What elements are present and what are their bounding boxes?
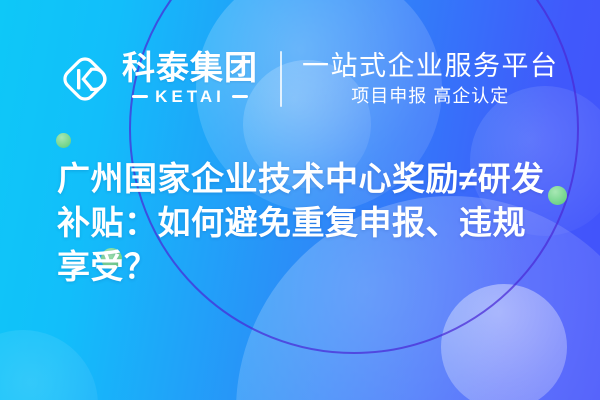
banner-header: 科泰集团 KETAI 一站式企业服务平台 项目申报 高企认定 [0,38,600,120]
brand-name-en: KETAI [155,87,225,107]
wordmark-rule-left [132,95,148,98]
decorative-green-dot-upper-left [56,133,71,148]
brand-wordmark: 科泰集团 KETAI [122,51,258,107]
brand-logo: 科泰集团 KETAI [58,51,258,107]
tagline-primary: 一站式企业服务平台 [302,51,559,81]
wordmark-rule-right [232,95,248,98]
decorative-circle-left-low [0,330,98,400]
brand-name-cn: 科泰集团 [122,51,258,85]
ketai-diamond-kd-monogram-icon [58,52,112,106]
decorative-circle-bottom-right [441,284,567,400]
brand-name-en-row: KETAI [122,87,258,107]
tagline-block: 一站式企业服务平台 项目申报 高企认定 [302,51,559,108]
tagline-secondary: 项目申报 高企认定 [302,86,559,108]
banner-headline: 广州国家企业技术中心奖励≠研发补贴：如何避免重复申报、违规享受？ [57,157,557,289]
header-divider [280,51,282,107]
promo-banner: 科泰集团 KETAI 一站式企业服务平台 项目申报 高企认定 广州国家企业技术中… [0,0,600,400]
